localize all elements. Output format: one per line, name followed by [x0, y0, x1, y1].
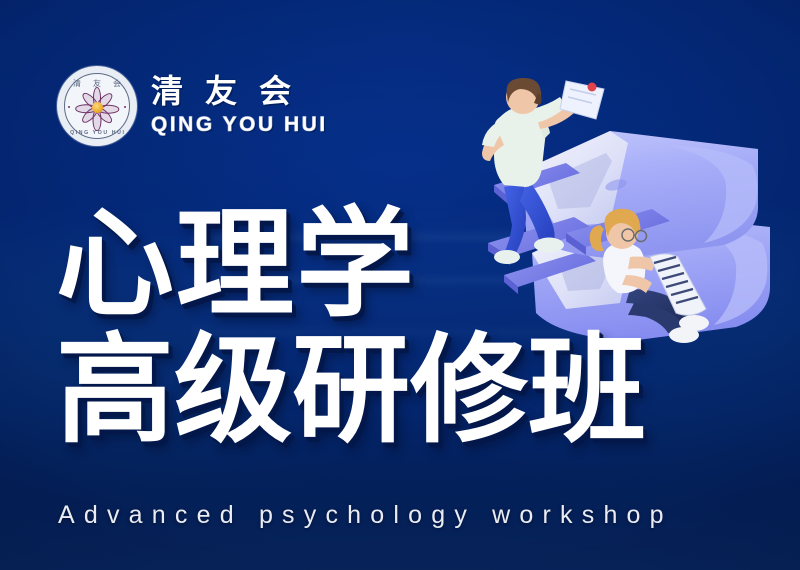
poster-headline: 心理学 高级研修班: [56, 208, 646, 448]
emblem-flower-icon: [74, 85, 120, 131]
brand-wordmark: 清 友 会 QING YOU HUI: [151, 75, 328, 137]
poster-subtitle: Advanced psychology workshop: [58, 503, 673, 528]
brand-name-en: QING YOU HUI: [151, 114, 328, 135]
brand-name-cn-char-2: 友: [205, 75, 237, 107]
brand-name-cn-char-3: 会: [259, 75, 291, 107]
headline-line-2: 高级研修班: [56, 334, 646, 447]
brand-name-cn: 清 友 会: [151, 75, 328, 107]
qing-you-hui-emblem-icon: 清 友 会 QING YOU HUI: [57, 66, 137, 146]
poster-canvas: 清 友 会 QING YOU HUI 清 友 会 QING: [0, 0, 800, 570]
headline-line-1: 心理学: [56, 208, 646, 321]
emblem-flower-core: [92, 102, 103, 113]
brand-name-cn-char-1: 清: [151, 75, 183, 107]
brand-logo: 清 友 会 QING YOU HUI 清 友 会 QING: [57, 66, 328, 146]
